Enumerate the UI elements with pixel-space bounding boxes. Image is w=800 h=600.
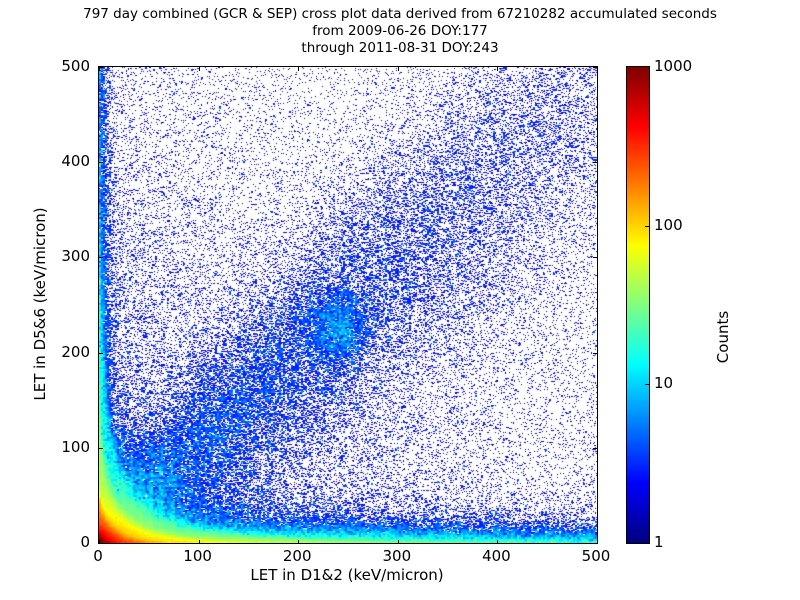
x-tick-top-300 (398, 67, 399, 71)
x-ticklabel-400: 400 (482, 547, 511, 565)
plot-axes (98, 66, 598, 544)
y-ticklabel-500: 500 (30, 57, 90, 75)
colorbar-tick-100 (645, 226, 649, 227)
title-line-1: 797 day combined (GCR & SEP) cross plot … (0, 6, 800, 23)
y-tick-right-500 (593, 67, 597, 68)
colorbar-ticklabel-100: 100 (654, 216, 683, 234)
colorbar-gradient (627, 67, 649, 543)
x-tick-top-500 (597, 67, 598, 71)
x-tick-200 (298, 540, 299, 544)
x-tick-100 (199, 540, 200, 544)
y-ticklabel-100: 100 (30, 438, 90, 456)
y-tick-300 (99, 257, 103, 258)
colorbar-tick-10 (645, 384, 649, 385)
x-tick-300 (398, 540, 399, 544)
y-tick-right-100 (593, 448, 597, 449)
x-tick-top-400 (497, 67, 498, 71)
x-tick-400 (497, 540, 498, 544)
x-tick-500 (597, 540, 598, 544)
y-ticklabel-400: 400 (30, 152, 90, 170)
figure-canvas: 797 day combined (GCR & SEP) cross plot … (0, 0, 800, 600)
x-ticklabel-200: 200 (283, 547, 312, 565)
y-tick-right-200 (593, 353, 597, 354)
x-ticklabel-0: 0 (93, 547, 103, 565)
title-line-3: through 2011-08-31 DOY:243 (0, 40, 800, 57)
y-tick-0 (99, 543, 103, 544)
y-tick-200 (99, 353, 103, 354)
y-tick-right-0 (593, 543, 597, 544)
title-line-2: from 2009-06-26 DOY:177 (0, 23, 800, 40)
colorbar-ticklabel-10: 10 (654, 374, 673, 392)
x-axis-label: LET in D1&2 (keV/micron) (98, 566, 596, 584)
y-tick-right-300 (593, 257, 597, 258)
x-ticklabel-100: 100 (183, 547, 212, 565)
plot-title: 797 day combined (GCR & SEP) cross plot … (0, 6, 800, 57)
x-ticklabel-500: 500 (582, 547, 611, 565)
density-scatter-plot (99, 67, 597, 543)
y-tick-100 (99, 448, 103, 449)
colorbar-ticklabel-1: 1 (654, 533, 664, 551)
colorbar (626, 66, 650, 544)
colorbar-ticklabel-1000: 1000 (654, 57, 692, 75)
x-tick-top-200 (298, 67, 299, 71)
y-axis-label: LET in D5&6 (keV/micron) (31, 207, 49, 400)
y-tick-500 (99, 67, 103, 68)
y-tick-400 (99, 162, 103, 163)
y-ticklabel-0: 0 (30, 533, 90, 551)
y-tick-right-400 (593, 162, 597, 163)
colorbar-title: Counts (714, 311, 732, 363)
x-tick-top-100 (199, 67, 200, 71)
x-ticklabel-300: 300 (382, 547, 411, 565)
